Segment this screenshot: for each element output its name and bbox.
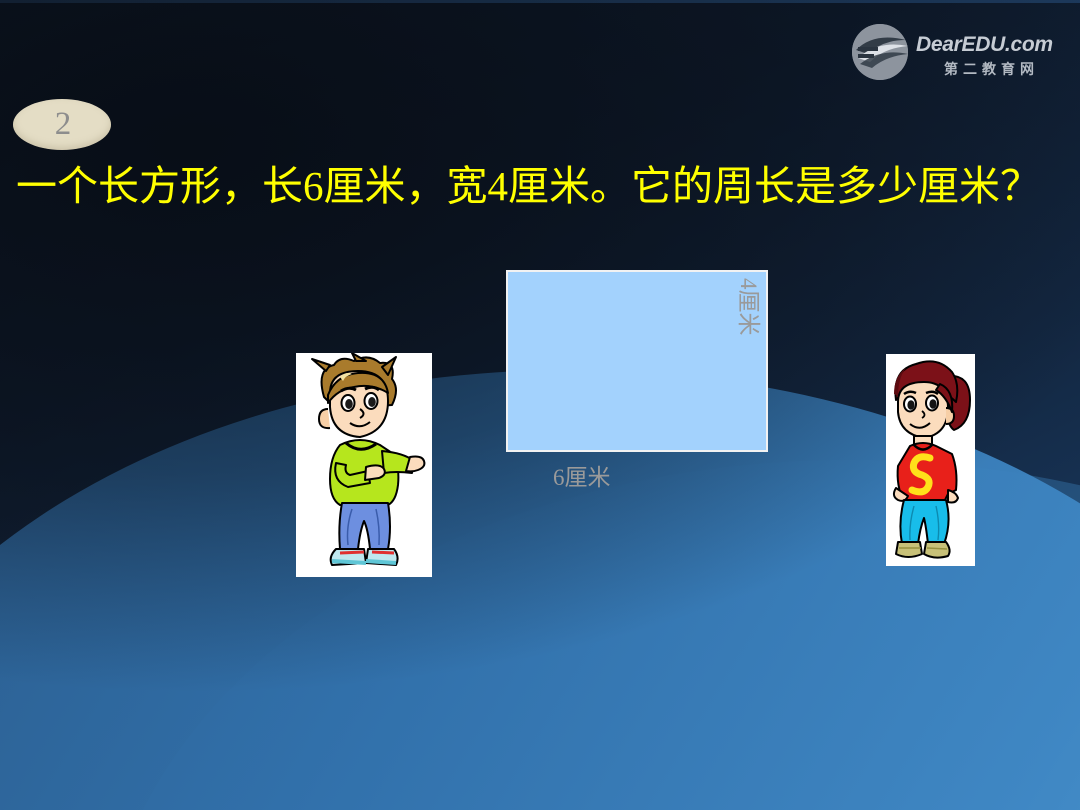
question-text: 一个长方形，长6厘米，宽4厘米。它的周长是多少厘米？ <box>16 164 1041 209</box>
logo-text-english: DearEDU.com <box>916 33 1053 57</box>
rectangle-figure <box>506 270 768 452</box>
boy-pointing-clipart <box>296 353 432 577</box>
slide-canvas: DearEDU.com 第二教育网 2 一个长方形，长6厘米，宽4厘米。它的周长… <box>0 0 1080 810</box>
rectangle-width-label: 6厘米 <box>553 458 611 492</box>
logo-text-chinese: 第二教育网 <box>944 59 1039 79</box>
top-edge-strip <box>0 0 1080 3</box>
rectangle-height-label: 4厘米 <box>734 278 768 336</box>
question-number-badge: 2 <box>13 99 111 150</box>
dearedu-logo: DearEDU.com 第二教育网 <box>852 22 1070 84</box>
question-number-text: 2 <box>13 99 111 150</box>
girl-clipart <box>886 354 975 566</box>
logo-circle-icon <box>852 24 908 80</box>
